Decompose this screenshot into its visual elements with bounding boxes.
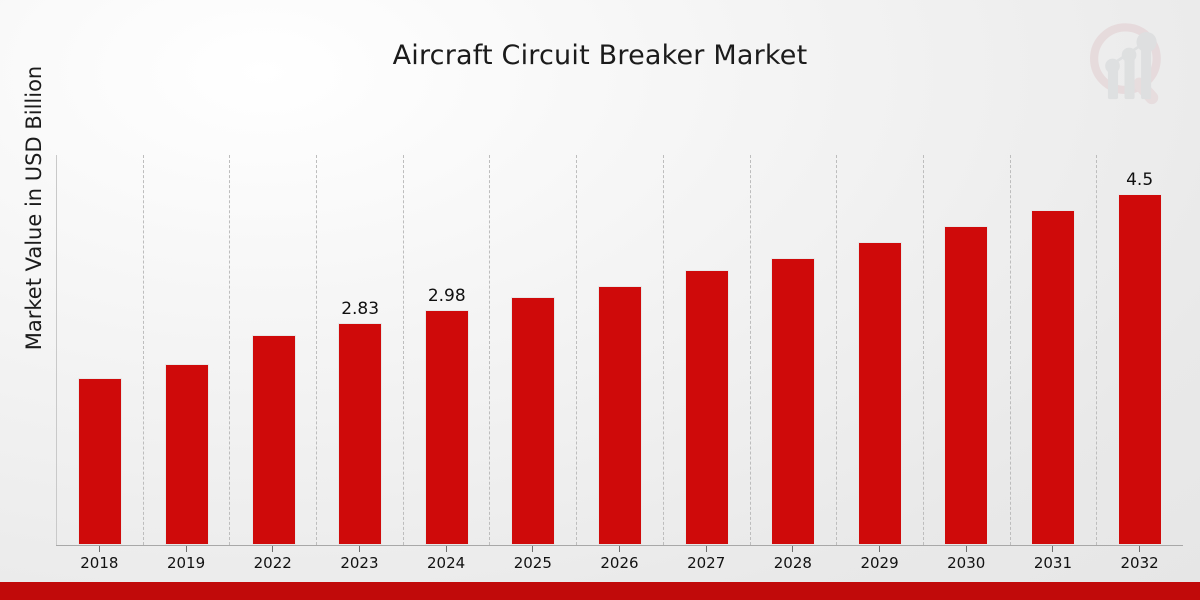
- x-tick-label: 2018: [80, 554, 118, 572]
- bar-rect[interactable]: [771, 258, 815, 545]
- x-tick: 2032: [1096, 546, 1183, 572]
- bar-item[interactable]: [577, 155, 664, 545]
- x-tick-label: 2030: [947, 554, 985, 572]
- bar-item[interactable]: 4.5: [1096, 155, 1183, 545]
- x-tick: 2028: [750, 546, 837, 572]
- x-tick: 2024: [403, 546, 490, 572]
- bar-rect[interactable]: [78, 378, 122, 545]
- bar-item[interactable]: [230, 155, 317, 545]
- bar-rect[interactable]: [252, 335, 296, 545]
- plot-area: 2.832.98 4.5: [56, 155, 1183, 545]
- bar-rect[interactable]: [598, 286, 642, 545]
- chart-page: Aircraft Circuit Breaker Market Market V…: [0, 0, 1200, 600]
- x-axis-tick-labels: 2018201920222023202420252026202720282029…: [56, 546, 1183, 572]
- bar-rect[interactable]: [338, 323, 382, 545]
- tick-mark: [1052, 546, 1053, 552]
- x-tick: 2018: [56, 546, 143, 572]
- x-tick-label: 2019: [167, 554, 205, 572]
- magnifier-bar-chart-logo-icon: [1084, 18, 1176, 114]
- footer-band: [0, 582, 1200, 600]
- bar-item[interactable]: [490, 155, 577, 545]
- bar-rect[interactable]: [685, 270, 729, 545]
- x-tick-label: 2028: [774, 554, 812, 572]
- x-tick-label: 2022: [254, 554, 292, 572]
- tick-mark: [186, 546, 187, 552]
- x-tick: 2030: [923, 546, 1010, 572]
- x-tick: 2031: [1010, 546, 1097, 572]
- x-tick: 2023: [316, 546, 403, 572]
- bar-rect[interactable]: [511, 297, 555, 545]
- x-tick-label: 2026: [600, 554, 638, 572]
- bar-item[interactable]: [1010, 155, 1097, 545]
- tick-mark: [706, 546, 707, 552]
- bar-item[interactable]: [836, 155, 923, 545]
- bar-item[interactable]: [57, 155, 144, 545]
- bar-value-label: 2.83: [341, 299, 379, 319]
- tick-mark: [446, 546, 447, 552]
- bar-item[interactable]: [663, 155, 750, 545]
- x-tick: 2022: [229, 546, 316, 572]
- tick-mark: [1139, 546, 1140, 552]
- bar-value-label: 4.5: [1126, 170, 1153, 190]
- x-tick: 2019: [143, 546, 230, 572]
- bar-item[interactable]: [923, 155, 1010, 545]
- x-tick: 2029: [836, 546, 923, 572]
- bar-item[interactable]: 2.98: [403, 155, 490, 545]
- tick-mark: [966, 546, 967, 552]
- x-tick-label: 2029: [860, 554, 898, 572]
- x-tick-label: 2025: [514, 554, 552, 572]
- tick-mark: [359, 546, 360, 552]
- x-tick-label: 2024: [427, 554, 465, 572]
- bar-value-label: 2.98: [428, 286, 466, 306]
- bar-rect[interactable]: [165, 364, 209, 545]
- tick-mark: [792, 546, 793, 552]
- x-tick: 2026: [576, 546, 663, 572]
- bar-item[interactable]: 2.83: [317, 155, 404, 545]
- x-tick-label: 2023: [340, 554, 378, 572]
- tick-mark: [879, 546, 880, 552]
- bar-series: 2.832.98 4.5: [57, 155, 1183, 545]
- bar-rect[interactable]: [1031, 210, 1075, 545]
- tick-mark: [99, 546, 100, 552]
- bar-rect[interactable]: [858, 242, 902, 545]
- bar-item[interactable]: [144, 155, 231, 545]
- chart-title: Aircraft Circuit Breaker Market: [0, 40, 1200, 71]
- bar-item[interactable]: [750, 155, 837, 545]
- bar-rect[interactable]: [425, 310, 469, 545]
- tick-mark: [619, 546, 620, 552]
- tick-mark: [532, 546, 533, 552]
- x-tick-label: 2032: [1121, 554, 1159, 572]
- tick-mark: [272, 546, 273, 552]
- y-axis-title: Market Value in USD Billion: [22, 8, 46, 408]
- bar-rect[interactable]: [944, 226, 988, 545]
- x-tick: 2025: [489, 546, 576, 572]
- x-tick-label: 2031: [1034, 554, 1072, 572]
- x-tick-label: 2027: [687, 554, 725, 572]
- bar-rect[interactable]: [1118, 194, 1162, 545]
- x-tick: 2027: [663, 546, 750, 572]
